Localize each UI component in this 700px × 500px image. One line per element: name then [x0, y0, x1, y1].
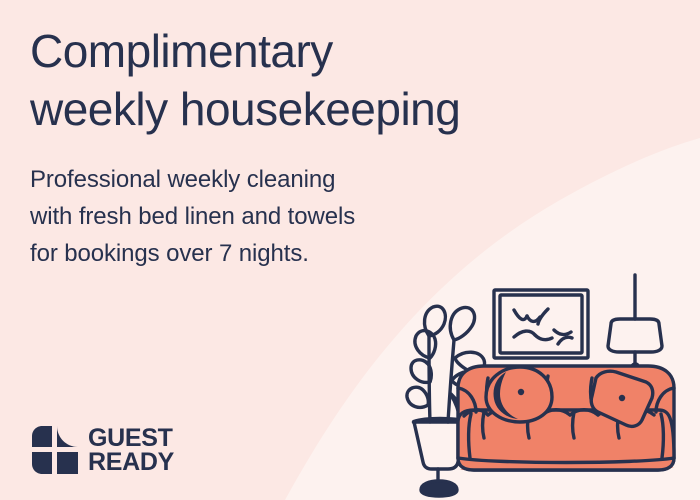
promo-banner: Complimentary weekly housekeeping Profes…	[0, 0, 700, 500]
framed-picture-icon	[494, 290, 588, 358]
banner-content: Complimentary weekly housekeeping Profes…	[0, 0, 700, 500]
logo-line-ready: READY	[88, 450, 174, 474]
description-text: Professional weekly cleaning with fresh …	[30, 161, 450, 272]
logo-wordmark: GUEST READY	[88, 426, 174, 474]
pendant-lamp-icon	[608, 275, 662, 370]
living-room-illustration	[396, 262, 700, 500]
sofa-icon	[458, 366, 674, 470]
guestready-quadrant-mark-icon	[31, 425, 79, 475]
guest-ready-logo: GUEST READY	[31, 425, 174, 475]
page-title: Complimentary weekly housekeeping	[30, 22, 650, 138]
logo-line-guest: GUEST	[88, 426, 174, 450]
